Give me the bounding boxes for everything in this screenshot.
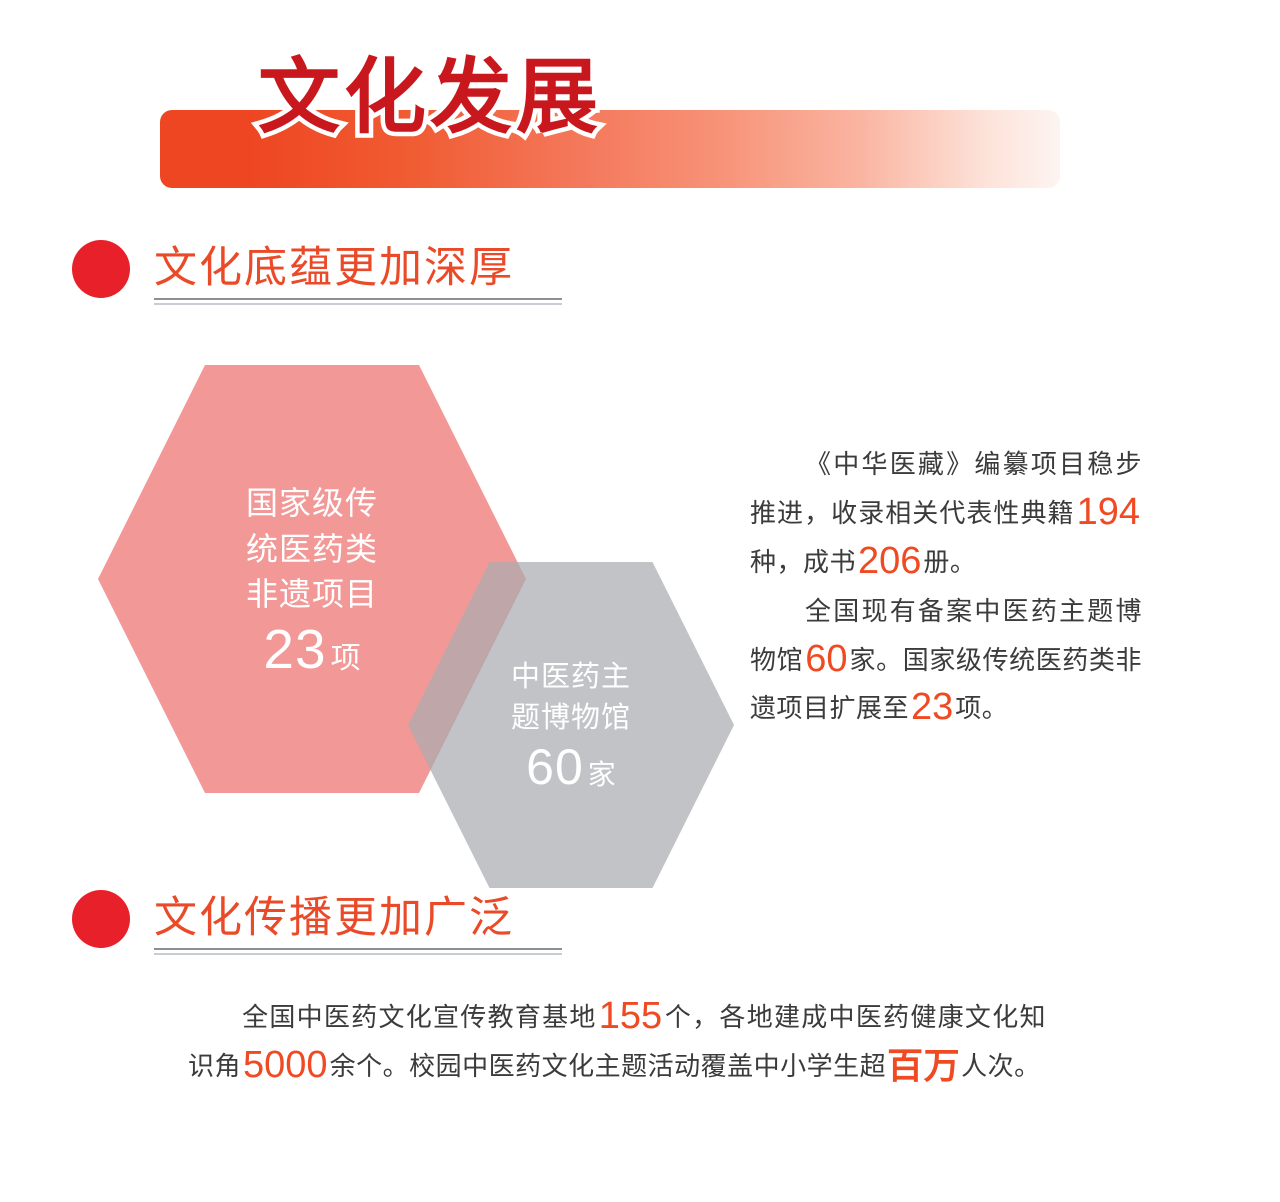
heading-underline-top	[154, 298, 562, 300]
red-dot-icon	[72, 890, 130, 948]
hexagon-unit: 家	[588, 759, 616, 790]
highlight-number: 5000	[241, 1044, 330, 1086]
hexagon-value: 23项	[263, 622, 360, 677]
heading-underline-bottom	[154, 953, 562, 955]
heading-underline	[154, 948, 562, 955]
hexagon-label-line: 题博物馆	[511, 698, 631, 739]
heading-text-wrapper: 文化传播更加广泛	[154, 896, 514, 942]
highlight-number: 206	[856, 540, 923, 582]
paragraph-text: 种，成书	[750, 547, 856, 577]
paragraph-text: 项。	[955, 693, 1008, 723]
hexagon-label-line: 中医药主	[511, 657, 631, 698]
highlight-number: 60	[803, 638, 849, 680]
section-heading-label: 文化底蕴更加深厚	[154, 246, 514, 292]
paragraph-text: 全国中医药文化宣传教育基地	[241, 1002, 596, 1032]
heading-underline	[154, 298, 562, 305]
red-dot-icon	[72, 240, 130, 298]
hexagon-unit: 项	[331, 642, 361, 675]
hexagon-number: 23	[263, 618, 326, 680]
paragraph-culture-foundation: 《中华医藏》编纂项目稳步推进，收录相关代表性典籍194种，成书206册。 全国现…	[750, 440, 1142, 733]
highlight-number: 23	[909, 686, 955, 728]
paragraph-culture-spread: 全国中医药文化宣传教育基地155个，各地建成中医药健康文化知识角5000余个。校…	[188, 993, 1046, 1091]
title-banner: 文化发展	[0, 0, 1280, 215]
hexagon-number: 60	[526, 739, 584, 795]
section-heading-culture-spread: 文化传播更加广泛	[72, 890, 514, 948]
highlight-number: 百万	[886, 1045, 961, 1086]
section-heading-culture-foundation: 文化底蕴更加深厚	[72, 240, 514, 298]
hexagon-label-line: 国家级传	[246, 481, 378, 526]
paragraph-text: 人次。	[961, 1051, 1041, 1081]
hexagon-label-line: 统医药类	[246, 527, 378, 572]
heading-underline-bottom	[154, 303, 562, 305]
paragraph-text: 余个。校园中医药文化主题活动覆盖中小学生超	[330, 1051, 887, 1081]
hexagon-label: 国家级传 统医药类 非遗项目	[246, 481, 378, 617]
hexagon-value: 60家	[526, 742, 616, 793]
heading-text-wrapper: 文化底蕴更加深厚	[154, 246, 514, 292]
section-heading-label: 文化传播更加广泛	[154, 896, 514, 942]
highlight-number: 194	[1075, 491, 1142, 533]
page-title: 文化发展	[258, 56, 602, 138]
highlight-number: 155	[597, 995, 664, 1037]
paragraph-text: 册。	[923, 547, 976, 577]
heading-underline-top	[154, 948, 562, 950]
hexagon-label-line: 非遗项目	[246, 572, 378, 617]
hexagon-label: 中医药主 题博物馆	[511, 657, 631, 738]
